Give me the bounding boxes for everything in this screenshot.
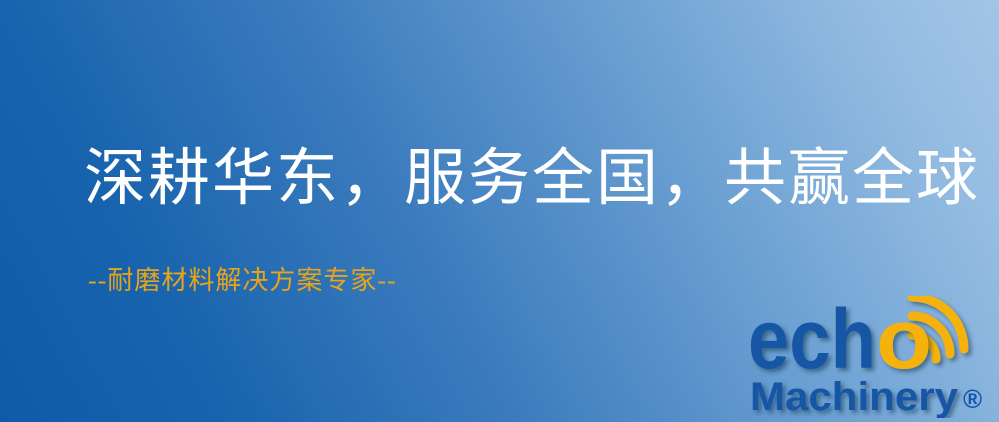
page-subtitle: --耐磨材料解决方案专家--: [88, 268, 397, 294]
logo-trademark-icon: ®: [963, 384, 982, 414]
echo-machinery-logo[interactable]: ech o Machinery ®: [744, 296, 996, 418]
page-title: 深耕华东，服务全国，共赢全球: [84, 148, 980, 210]
logo-brand-ech: ech: [748, 296, 876, 386]
logo-brand-o: o: [876, 296, 932, 386]
hero-banner: 深耕华东，服务全国，共赢全球 --耐磨材料解决方案专家-- ech o Mach…: [0, 0, 999, 422]
logo-brand-machinery: Machinery: [750, 375, 959, 418]
